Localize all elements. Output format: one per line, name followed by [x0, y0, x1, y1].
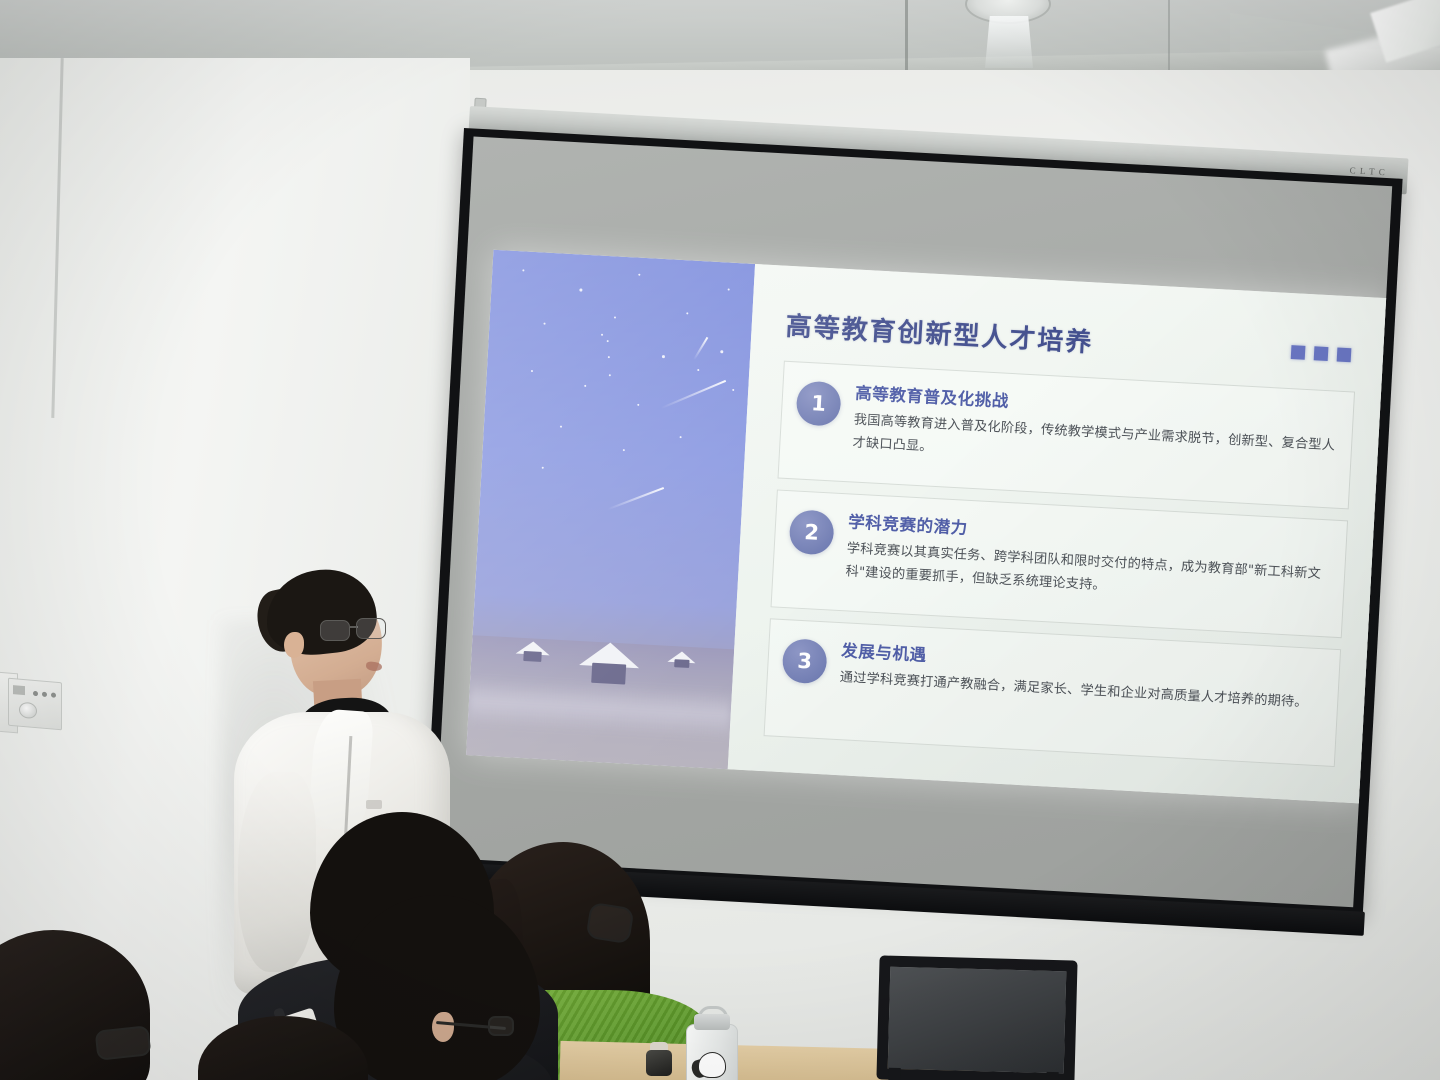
chair-leg: [888, 1068, 901, 1080]
bottle-cap: [694, 1014, 730, 1030]
glasses-icon: [585, 902, 634, 944]
people-layer: [0, 0, 1440, 1080]
presenter-arm: [238, 772, 316, 972]
presenter-ear: [284, 632, 304, 658]
chair-backrest: [876, 955, 1077, 1080]
black-mesh-chair: [876, 955, 1077, 1080]
snoopy-water-bottle[interactable]: [686, 1008, 738, 1080]
glasses-icon: [95, 1025, 152, 1060]
snoopy-icon: [698, 1052, 726, 1078]
glasses-icon: [436, 1018, 510, 1038]
small-desk-trinket: [646, 1050, 672, 1076]
presenter-jacket-logo: [366, 800, 382, 809]
chair-leg: [1046, 1072, 1059, 1080]
glasses-icon: [320, 618, 392, 642]
